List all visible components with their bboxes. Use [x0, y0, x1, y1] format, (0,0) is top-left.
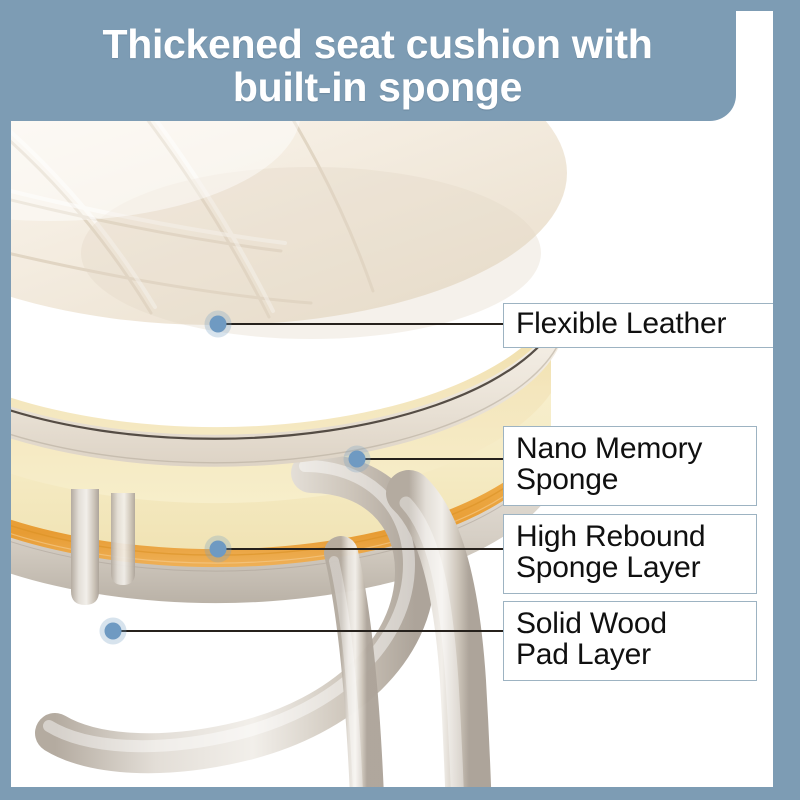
leader-line-flexible-leather — [224, 323, 516, 325]
leader-line-nano-memory-sponge — [363, 458, 516, 460]
callout-dot-high-rebound-sponge-layer[interactable] — [210, 541, 227, 558]
header-banner: Thickened seat cushion with built-in spo… — [11, 11, 736, 121]
callout-dot-nano-memory-sponge[interactable] — [349, 451, 366, 468]
label-text-solid-wood-pad-layer: Solid Wood Pad Layer — [516, 609, 667, 670]
callout-dot-flexible-leather[interactable] — [210, 316, 227, 333]
infographic-canvas: Flexible Leather Nano Memory Sponge High… — [11, 11, 773, 787]
label-box-solid-wood-pad-layer[interactable]: Solid Wood Pad Layer — [503, 601, 757, 681]
label-text-nano-memory-sponge: Nano Memory Sponge — [516, 434, 702, 495]
label-box-nano-memory-sponge[interactable]: Nano Memory Sponge — [503, 426, 757, 506]
callout-dot-solid-wood-pad-layer[interactable] — [105, 623, 122, 640]
page-title: Thickened seat cushion with built-in spo… — [68, 11, 678, 109]
infographic-frame: Flexible Leather Nano Memory Sponge High… — [0, 0, 800, 800]
leader-line-high-rebound-sponge-layer — [224, 548, 516, 550]
leader-line-solid-wood-pad-layer — [119, 630, 516, 632]
label-text-flexible-leather: Flexible Leather — [516, 309, 726, 340]
label-text-high-rebound-sponge-layer: High Rebound Sponge Layer — [516, 522, 705, 583]
label-box-flexible-leather[interactable]: Flexible Leather — [503, 303, 773, 348]
label-box-high-rebound-sponge-layer[interactable]: High Rebound Sponge Layer — [503, 514, 757, 594]
